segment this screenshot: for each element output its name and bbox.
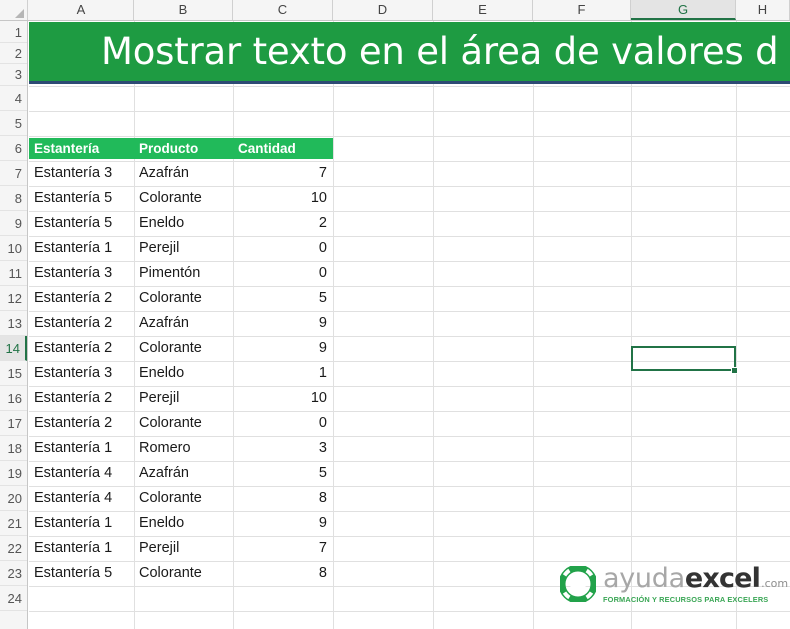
cell-producto-18[interactable]: Romero (134, 436, 233, 461)
cell-estanteria-23[interactable]: Estantería 5 (29, 561, 134, 586)
cell-producto-10[interactable]: Perejil (134, 236, 233, 261)
grid-line-col-C (333, 21, 334, 629)
grid-line-row-3 (29, 86, 790, 87)
cell-estanteria-15[interactable]: Estantería 3 (29, 361, 134, 386)
select-all-corner[interactable] (0, 0, 28, 20)
column-headers[interactable]: ABCDEFGH (0, 0, 790, 21)
logo-tagline: FORMACIÓN Y RECURSOS PARA EXCELERS (603, 595, 788, 604)
cell-producto-21[interactable]: Eneldo (134, 511, 233, 536)
cell-producto-7[interactable]: Azafrán (134, 161, 233, 186)
column-header-H[interactable]: H (736, 0, 790, 20)
cell-cantidad-21[interactable]: 9 (233, 511, 333, 536)
merged-title-banner[interactable]: Mostrar texto en el área de valores d (29, 22, 790, 84)
row-header-3[interactable]: 3 (0, 64, 27, 86)
cell-estanteria-22[interactable]: Estantería 1 (29, 536, 134, 561)
cell-producto-14[interactable]: Colorante (134, 336, 233, 361)
column-header-G[interactable]: G (631, 0, 736, 20)
grid-line-col-F (631, 21, 632, 629)
cell-cantidad-7[interactable]: 7 (233, 161, 333, 186)
grid-line-col-E (533, 21, 534, 629)
cell-estanteria-9[interactable]: Estantería 5 (29, 211, 134, 236)
row-header-24[interactable]: 24 (0, 586, 27, 611)
cell-estanteria-11[interactable]: Estantería 3 (29, 261, 134, 286)
row-header-8[interactable]: 8 (0, 186, 27, 211)
cell-cantidad-15[interactable]: 1 (233, 361, 333, 386)
cell-producto-22[interactable]: Perejil (134, 536, 233, 561)
column-header-F[interactable]: F (533, 0, 631, 20)
row-header-19[interactable]: 19 (0, 461, 27, 486)
row-headers[interactable]: 123456789101112131415161718192021222324 (0, 21, 28, 629)
cell-cantidad-13[interactable]: 9 (233, 311, 333, 336)
row-header-10[interactable]: 10 (0, 236, 27, 261)
cell-cantidad-10[interactable]: 0 (233, 236, 333, 261)
row-header-7[interactable]: 7 (0, 161, 27, 186)
table-column-header-2: Producto (134, 138, 233, 159)
cell-estanteria-8[interactable]: Estantería 5 (29, 186, 134, 211)
select-all-triangle-icon (15, 9, 24, 18)
cell-cantidad-18[interactable]: 3 (233, 436, 333, 461)
cell-estanteria-20[interactable]: Estantería 4 (29, 486, 134, 511)
cell-cantidad-14[interactable]: 9 (233, 336, 333, 361)
cell-producto-20[interactable]: Colorante (134, 486, 233, 511)
row-header-12[interactable]: 12 (0, 286, 27, 311)
column-header-C[interactable]: C (233, 0, 333, 20)
row-header-16[interactable]: 16 (0, 386, 27, 411)
cell-estanteria-10[interactable]: Estantería 1 (29, 236, 134, 261)
active-cell-g14[interactable] (631, 346, 736, 371)
fill-handle[interactable] (731, 367, 738, 374)
row-header-2[interactable]: 2 (0, 43, 27, 64)
logo-wordmark-line: ayudaexcel.com (603, 565, 788, 592)
cell-cantidad-22[interactable]: 7 (233, 536, 333, 561)
row-header-20[interactable]: 20 (0, 486, 27, 511)
cell-estanteria-13[interactable]: Estantería 2 (29, 311, 134, 336)
grid-line-row-4 (29, 111, 790, 112)
cell-cantidad-8[interactable]: 10 (233, 186, 333, 211)
cell-cantidad-12[interactable]: 5 (233, 286, 333, 311)
row-header-18[interactable]: 18 (0, 436, 27, 461)
grid-line-row-5 (29, 136, 790, 137)
cell-producto-11[interactable]: Pimentón (134, 261, 233, 286)
cell-cantidad-20[interactable]: 8 (233, 486, 333, 511)
cell-estanteria-7[interactable]: Estantería 3 (29, 161, 134, 186)
cell-estanteria-14[interactable]: Estantería 2 (29, 336, 134, 361)
cell-producto-13[interactable]: Azafrán (134, 311, 233, 336)
logo-word-ayuda: ayuda (603, 565, 685, 592)
row-header-9[interactable]: 9 (0, 211, 27, 236)
table-column-header-1: Estantería (29, 138, 134, 159)
cell-producto-15[interactable]: Eneldo (134, 361, 233, 386)
logo-tld: .com (761, 578, 788, 589)
cell-producto-23[interactable]: Colorante (134, 561, 233, 586)
cell-cantidad-11[interactable]: 0 (233, 261, 333, 286)
row-header-13[interactable]: 13 (0, 311, 27, 336)
column-header-A[interactable]: A (29, 0, 134, 20)
row-header-15[interactable]: 15 (0, 361, 27, 386)
cell-producto-17[interactable]: Colorante (134, 411, 233, 436)
row-header-1[interactable]: 1 (0, 22, 27, 43)
cell-producto-19[interactable]: Azafrán (134, 461, 233, 486)
cell-cantidad-17[interactable]: 0 (233, 411, 333, 436)
row-header-4[interactable]: 4 (0, 86, 27, 111)
column-header-D[interactable]: D (333, 0, 433, 20)
row-header-6[interactable]: 6 (0, 136, 27, 161)
banner-title-text: Mostrar texto en el área de valores d (29, 30, 778, 73)
column-header-E[interactable]: E (433, 0, 533, 20)
row-header-17[interactable]: 17 (0, 411, 27, 436)
grid-line-col-D (433, 21, 434, 629)
row-header-21[interactable]: 21 (0, 511, 27, 536)
logo-word-excel: excel (685, 565, 760, 592)
cell-estanteria-16[interactable]: Estantería 2 (29, 386, 134, 411)
cell-cantidad-19[interactable]: 5 (233, 461, 333, 486)
row-header-14[interactable]: 14 (0, 336, 27, 361)
cell-producto-12[interactable]: Colorante (134, 286, 233, 311)
cell-cantidad-23[interactable]: 8 (233, 561, 333, 586)
row-header-11[interactable]: 11 (0, 261, 27, 286)
cell-estanteria-18[interactable]: Estantería 1 (29, 436, 134, 461)
spreadsheet-grid[interactable]: Mostrar texto en el área de valores d Es… (0, 0, 790, 629)
table-column-header-3: Cantidad (233, 138, 333, 159)
cell-estanteria-19[interactable]: Estantería 4 (29, 461, 134, 486)
cell-cantidad-16[interactable]: 10 (233, 386, 333, 411)
ayudaexcel-logo: ayudaexcel.com FORMACIÓN Y RECURSOS PARA… (560, 562, 782, 606)
cell-estanteria-12[interactable]: Estantería 2 (29, 286, 134, 311)
grid-line-row-24 (29, 611, 790, 612)
cell-estanteria-17[interactable]: Estantería 2 (29, 411, 134, 436)
cell-producto-8[interactable]: Colorante (134, 186, 233, 211)
row-header-23[interactable]: 23 (0, 561, 27, 586)
cell-cantidad-9[interactable]: 2 (233, 211, 333, 236)
cell-producto-16[interactable]: Perejil (134, 386, 233, 411)
grid-line-col-G (736, 21, 737, 629)
row-header-5[interactable]: 5 (0, 111, 27, 136)
cell-estanteria-21[interactable]: Estantería 1 (29, 511, 134, 536)
cell-producto-9[interactable]: Eneldo (134, 211, 233, 236)
row-header-22[interactable]: 22 (0, 536, 27, 561)
logo-wordmark: ayudaexcel.com FORMACIÓN Y RECURSOS PARA… (603, 565, 788, 604)
column-header-B[interactable]: B (134, 0, 233, 20)
life-ring-icon (560, 566, 596, 602)
